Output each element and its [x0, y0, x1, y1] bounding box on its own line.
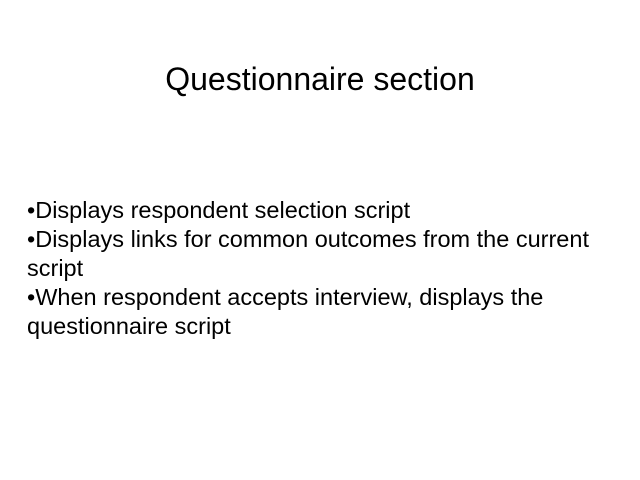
list-item-label: When respondent accepts interview, displ… — [27, 284, 543, 339]
presentation-slide: Questionnaire section •Displays responde… — [0, 0, 640, 480]
bullet-point-icon: • — [27, 226, 35, 252]
bullet-point-icon: • — [27, 197, 35, 223]
list-item-label: Displays links for common outcomes from … — [27, 226, 589, 281]
bullet-point-icon: • — [27, 284, 35, 310]
list-item: •Displays respondent selection script — [27, 196, 609, 225]
list-item: •Displays links for common outcomes from… — [27, 225, 609, 283]
list-item-label: Displays respondent selection script — [35, 197, 410, 223]
list-item: •When respondent accepts interview, disp… — [27, 283, 609, 341]
bullet-list: •Displays respondent selection script •D… — [27, 196, 609, 341]
page-title: Questionnaire section — [0, 59, 640, 99]
